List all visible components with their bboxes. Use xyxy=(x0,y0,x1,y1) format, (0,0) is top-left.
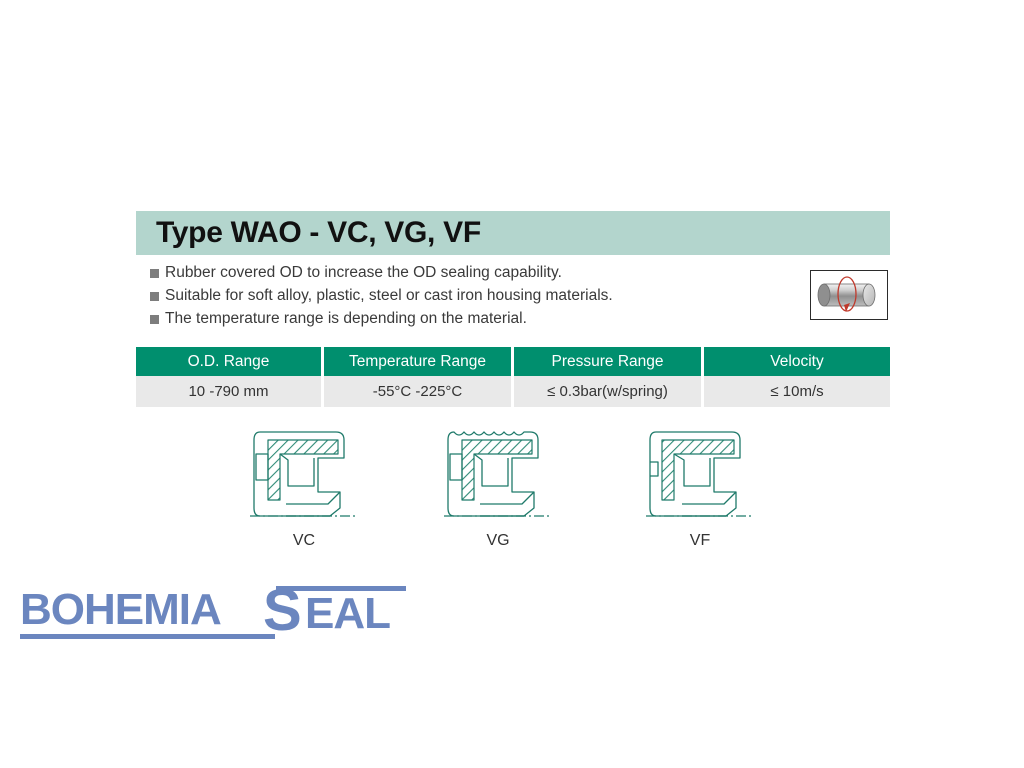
column-header-od-range: O.D. Range xyxy=(136,347,321,376)
value-temperature-range: -55°C -225°C xyxy=(324,376,511,407)
feature-text: The temperature range is depending on th… xyxy=(165,309,527,329)
company-logo: BOHEMIA S EAL xyxy=(18,578,418,650)
column-header-velocity: Velocity xyxy=(704,347,890,376)
value-velocity: ≤ 10m/s xyxy=(704,376,890,407)
logo-underline xyxy=(20,634,275,639)
seal-diagram-vg: VG xyxy=(428,424,568,550)
page-title: Type WAO - VC, VG, VF xyxy=(156,216,481,250)
value-od-range: 10 -790 mm xyxy=(136,376,321,407)
logo-overline xyxy=(276,586,406,591)
product-thumbnail xyxy=(810,270,888,320)
feature-list: Rubber covered OD to increase the OD sea… xyxy=(150,263,770,332)
column-header-temperature-range: Temperature Range xyxy=(324,347,511,376)
seal-cross-section-vc-icon xyxy=(244,424,364,524)
list-item: The temperature range is depending on th… xyxy=(150,309,770,330)
list-item: Suitable for soft alloy, plastic, steel … xyxy=(150,286,770,307)
column-header-pressure-range: Pressure Range xyxy=(514,347,701,376)
seal-diagram-vf: VF xyxy=(630,424,770,550)
rotating-shaft-icon xyxy=(811,271,886,318)
value-pressure-range: ≤ 0.3bar(w/spring) xyxy=(514,376,701,407)
diagram-label-vc: VC xyxy=(234,532,374,550)
title-banner: Type WAO - VC, VG, VF xyxy=(136,211,890,255)
feature-text: Rubber covered OD to increase the OD sea… xyxy=(165,263,562,283)
seal-diagram-group: VC xyxy=(0,424,1024,564)
seal-cross-section-vf-icon xyxy=(640,424,760,524)
seal-diagram-vc: VC xyxy=(234,424,374,550)
diagram-label-vf: VF xyxy=(630,532,770,550)
bohemia-seal-logo-icon: BOHEMIA S EAL xyxy=(18,578,418,650)
square-bullet-icon xyxy=(150,269,159,278)
diagram-label-vg: VG xyxy=(428,532,568,550)
specification-table: O.D. Range Temperature Range Pressure Ra… xyxy=(136,347,890,407)
square-bullet-icon xyxy=(150,315,159,324)
list-item: Rubber covered OD to increase the OD sea… xyxy=(150,263,770,284)
table-row: 10 -790 mm -55°C -225°C ≤ 0.3bar(w/sprin… xyxy=(136,376,890,407)
table-header-row: O.D. Range Temperature Range Pressure Ra… xyxy=(136,347,890,376)
feature-text: Suitable for soft alloy, plastic, steel … xyxy=(165,286,613,306)
square-bullet-icon xyxy=(150,292,159,301)
seal-cross-section-vg-icon xyxy=(438,424,558,524)
logo-word-bohemia: BOHEMIA xyxy=(20,585,221,634)
logo-word-eal: EAL xyxy=(305,589,390,638)
